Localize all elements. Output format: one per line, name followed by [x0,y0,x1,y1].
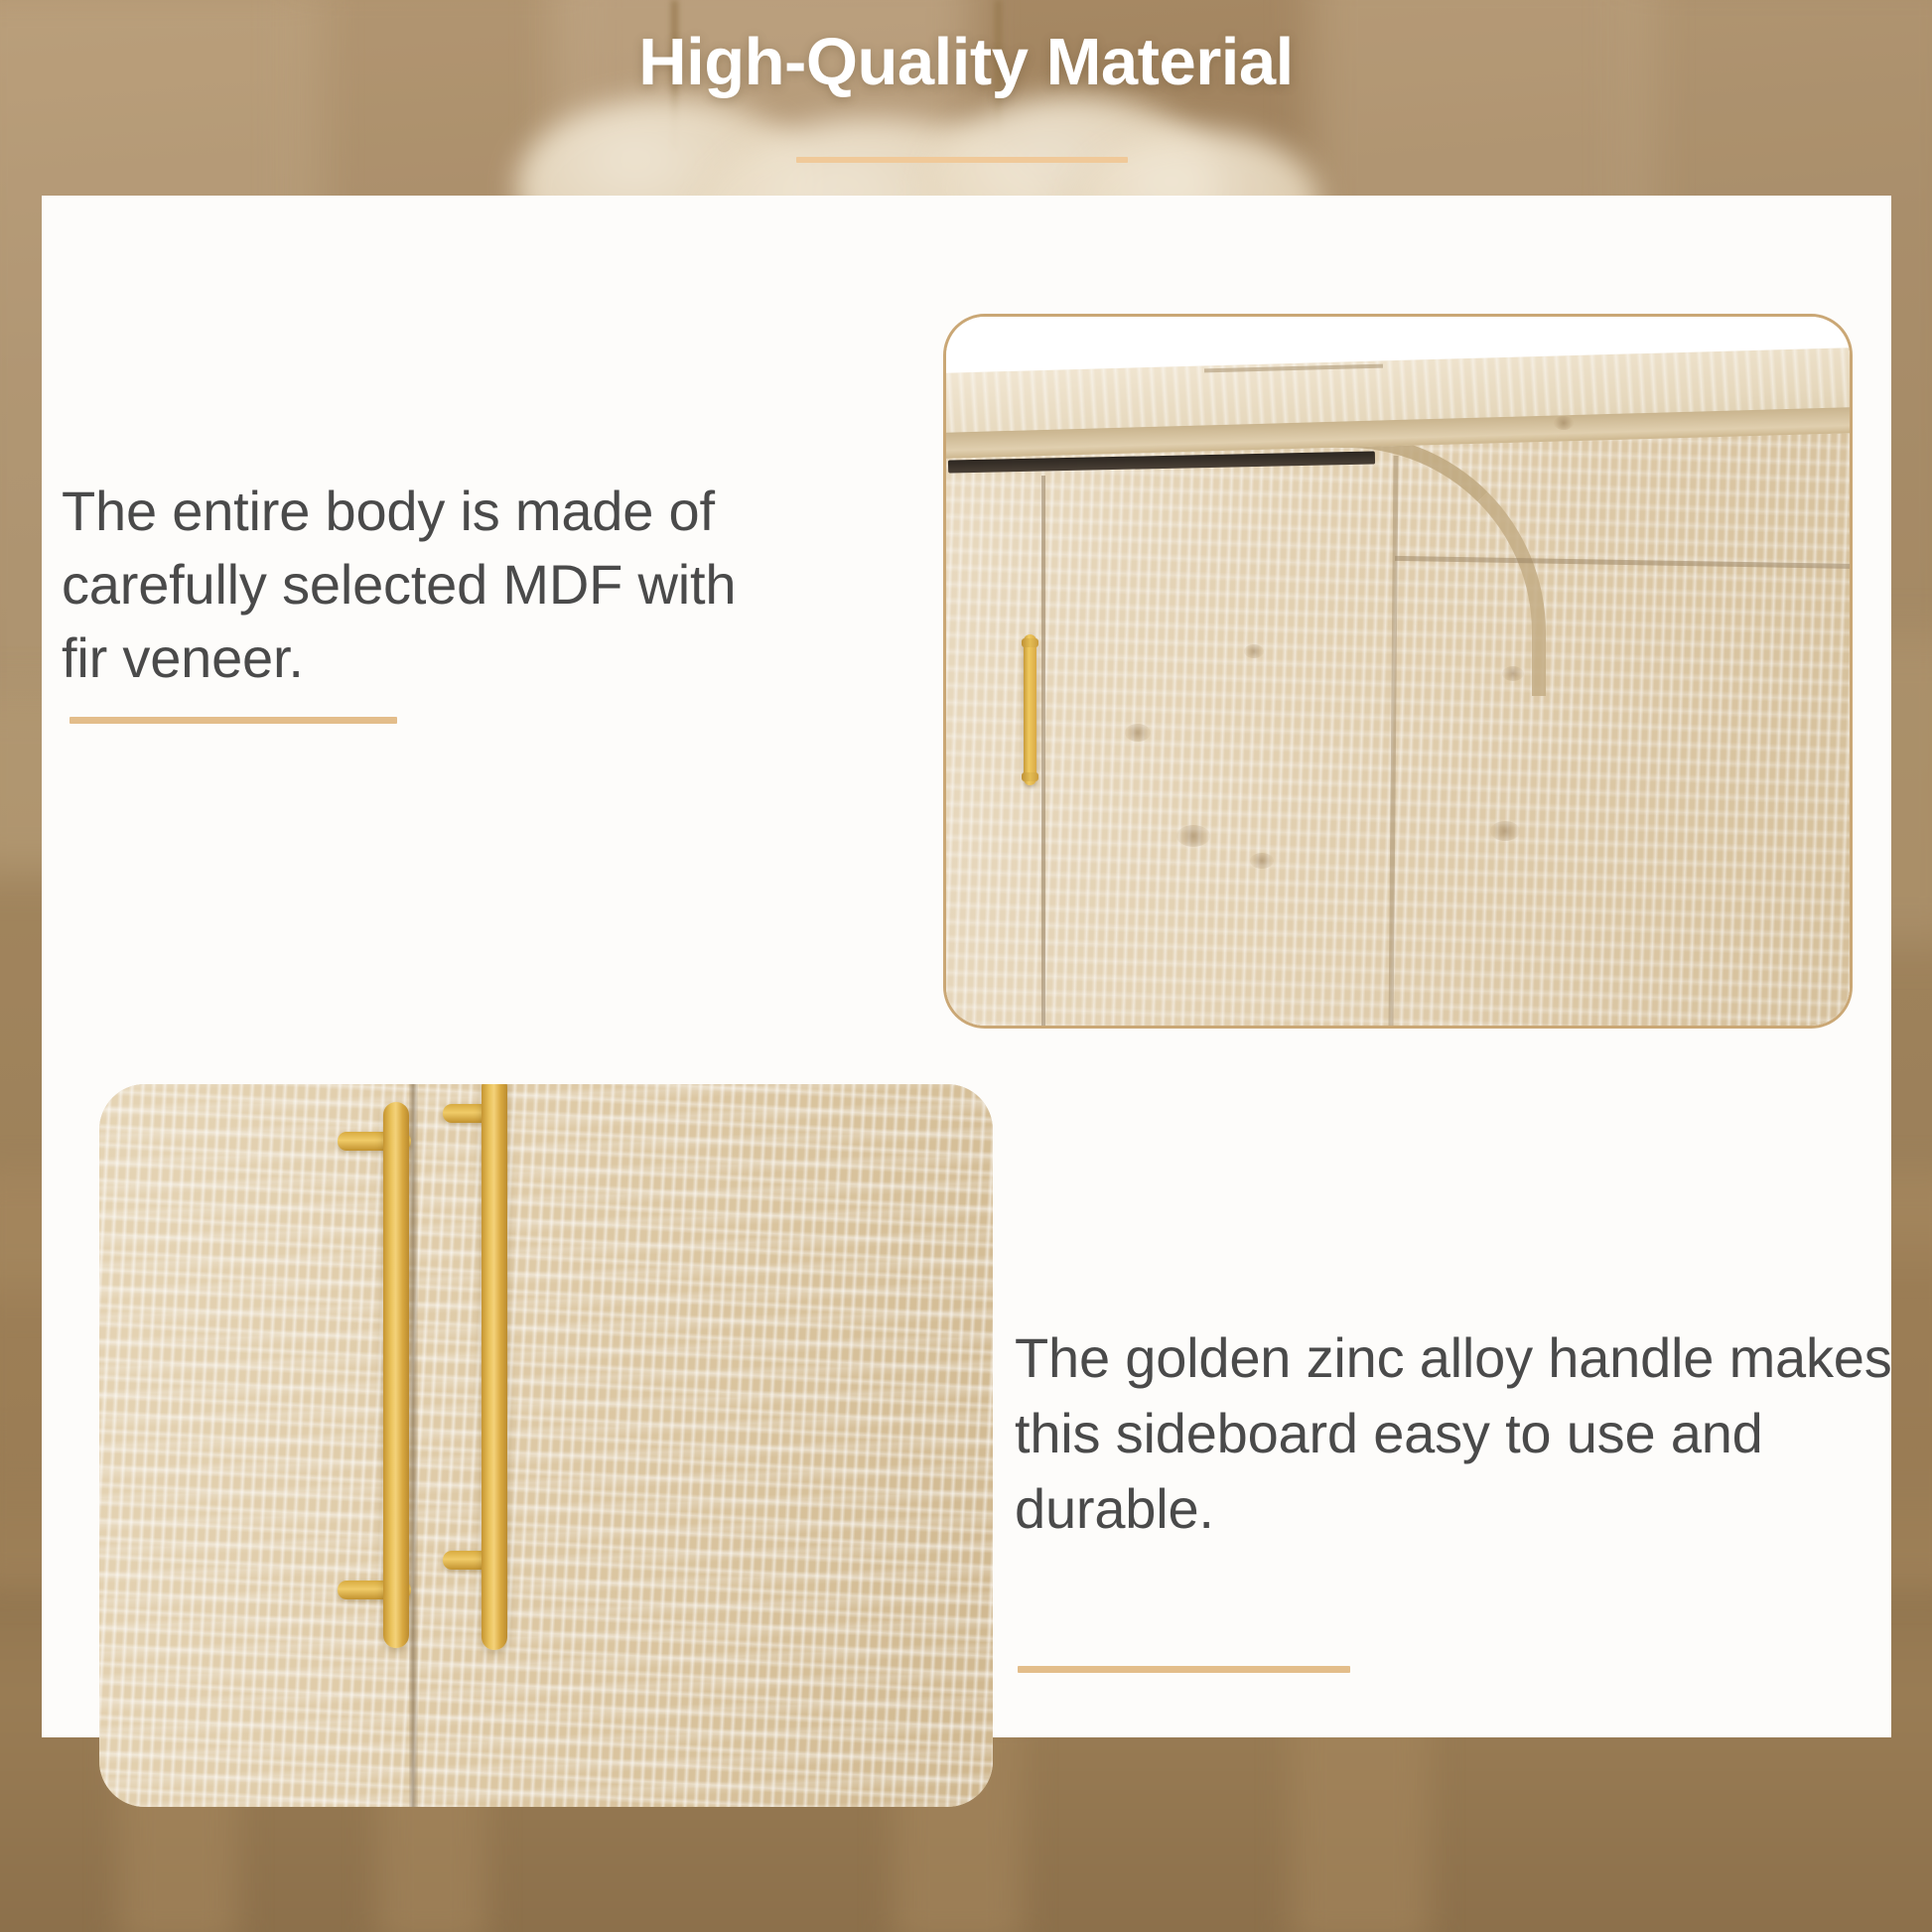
wood-knot [1176,825,1210,847]
feature-divider-rule-handle [1018,1666,1350,1673]
cabinet-door-seam [409,1084,418,1807]
golden-handle-photo [99,1084,993,1807]
photo-inner [99,1084,993,1807]
wood-knot [1250,853,1274,869]
feature-divider-rule-material [69,717,397,724]
wood-knot [1244,644,1264,658]
photo-inner [946,317,1850,1026]
gold-bar-handle-left [383,1102,409,1648]
page-title: High-Quality Material [0,24,1932,100]
cabinet-gold-handle [1024,634,1036,785]
infographic-canvas: High-Quality Material The entire body is… [0,0,1932,1932]
gold-bar-handle-right [482,1084,507,1650]
title-divider-rule [796,157,1128,163]
wood-knot [1125,724,1151,742]
wood-knot [1502,666,1524,681]
feature-text-material: The entire body is made of carefully sel… [62,475,776,695]
wood-knot [1554,416,1574,430]
wood-knot [1490,821,1520,841]
cabinet-door-seam [1041,476,1045,1029]
cabinet-corner-photo [943,314,1853,1029]
feature-text-handle: The golden zinc alloy handle makes this … [1015,1320,1908,1547]
